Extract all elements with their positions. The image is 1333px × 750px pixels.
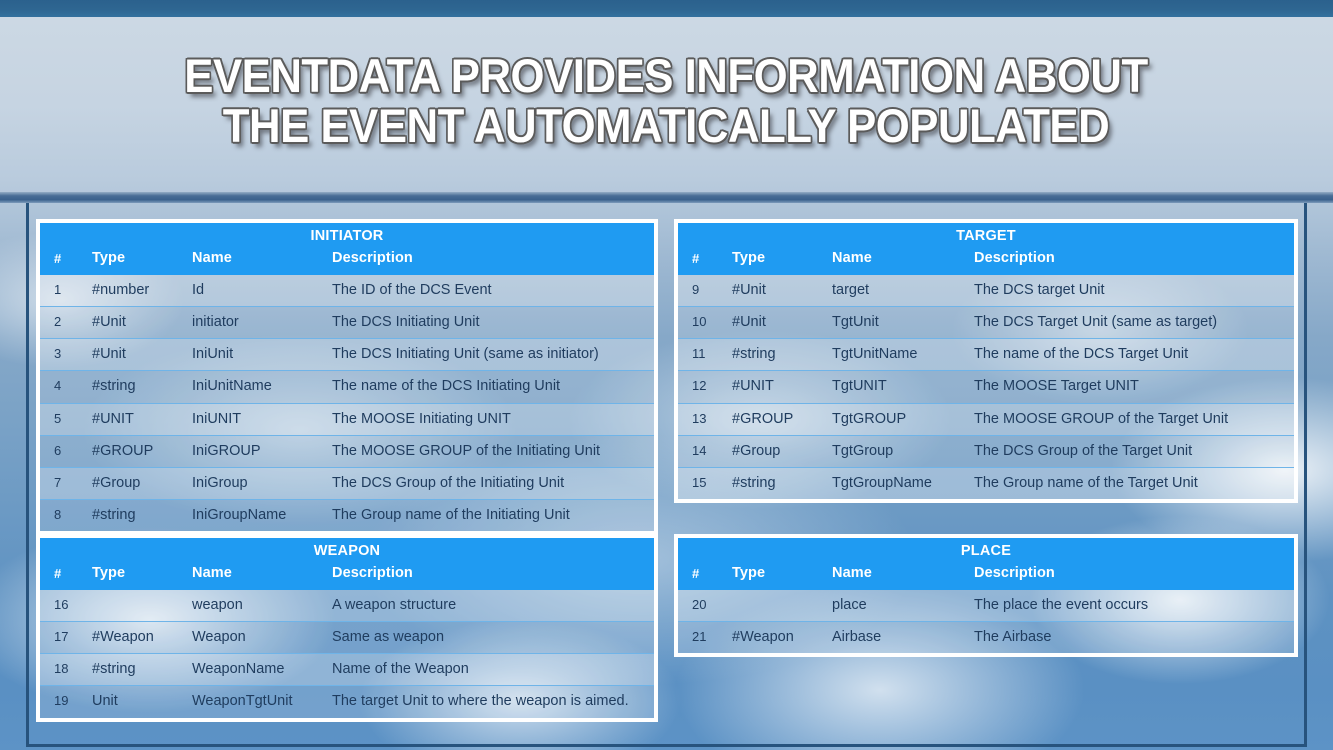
cell-name: WeaponTgtUnit (192, 686, 332, 718)
cell-type: #number (92, 275, 192, 307)
cell-type (92, 590, 192, 622)
cell-type: #Unit (92, 307, 192, 339)
cell-name: weapon (192, 590, 332, 622)
cell-desc: The target Unit to where the weapon is a… (332, 686, 654, 718)
table-row: 13 #GROUP TgtGROUP The MOOSE GROUP of th… (678, 403, 1294, 435)
table-row: 16 weapon A weapon structure (40, 590, 654, 622)
cell-num: 3 (40, 339, 92, 371)
table-initiator: INITIATOR # Type Name Description 1 #num… (36, 219, 658, 535)
cell-desc: The name of the DCS Target Unit (974, 339, 1294, 371)
cell-type: #Group (732, 435, 832, 467)
cell-name: TgtGROUP (832, 403, 974, 435)
cell-num: 13 (678, 403, 732, 435)
cell-name: TgtUNIT (832, 371, 974, 403)
cell-type: #string (92, 371, 192, 403)
cell-name: TgtUnit (832, 307, 974, 339)
cell-name: TgtGroup (832, 435, 974, 467)
cell-type: Unit (92, 686, 192, 718)
cell-type: #string (92, 499, 192, 531)
cell-type: #GROUP (732, 403, 832, 435)
frame-border-right (1304, 203, 1307, 747)
cell-num: 20 (678, 590, 732, 622)
table-row: 6 #GROUP IniGROUP The MOOSE GROUP of the… (40, 435, 654, 467)
title-area: EVENTDATA PROVIDES INFORMATION ABOUT THE… (0, 17, 1333, 192)
column-header-type: Type (732, 562, 832, 590)
cell-num: 12 (678, 371, 732, 403)
cell-type: #GROUP (92, 435, 192, 467)
table-header-row: # Type Name Description (678, 247, 1294, 275)
cell-name: IniUNIT (192, 403, 332, 435)
cell-desc: A weapon structure (332, 590, 654, 622)
cell-num: 9 (678, 275, 732, 307)
cell-desc: The place the event occurs (974, 590, 1294, 622)
cell-desc: The Group name of the Initiating Unit (332, 499, 654, 531)
cell-desc: The DCS target Unit (974, 275, 1294, 307)
cell-desc: The DCS Group of the Initiating Unit (332, 467, 654, 499)
column-header-num: # (40, 562, 92, 590)
cell-num: 8 (40, 499, 92, 531)
column-header-num: # (678, 247, 732, 275)
table-header-row: # Type Name Description (40, 247, 654, 275)
table-row: 12 #UNIT TgtUNIT The MOOSE Target UNIT (678, 371, 1294, 403)
frame-border-left (26, 203, 29, 747)
table-row: 17 #Weapon Weapon Same as weapon (40, 622, 654, 654)
column-header-num: # (40, 247, 92, 275)
table-row: 5 #UNIT IniUNIT The MOOSE Initiating UNI… (40, 403, 654, 435)
table-row: 1 #number Id The ID of the DCS Event (40, 275, 654, 307)
cell-num: 2 (40, 307, 92, 339)
cell-name: TgtGroupName (832, 467, 974, 499)
data-table-initiator: # Type Name Description 1 #number Id The… (40, 247, 654, 531)
table-row: 21 #Weapon Airbase The Airbase (678, 622, 1294, 654)
column-header-desc: Description (974, 247, 1294, 275)
cell-name: IniUnit (192, 339, 332, 371)
table-caption-place: PLACE (678, 538, 1294, 562)
cell-type: #string (92, 654, 192, 686)
table-header-row: # Type Name Description (40, 562, 654, 590)
cell-type: #UNIT (92, 403, 192, 435)
cell-num: 7 (40, 467, 92, 499)
cell-num: 18 (40, 654, 92, 686)
cell-type (732, 590, 832, 622)
cell-desc: The MOOSE Initiating UNIT (332, 403, 654, 435)
cell-type: #string (732, 467, 832, 499)
cell-type: #UNIT (732, 371, 832, 403)
column-header-type: Type (92, 247, 192, 275)
cell-desc: Name of the Weapon (332, 654, 654, 686)
cell-num: 17 (40, 622, 92, 654)
column-header-type: Type (732, 247, 832, 275)
table-row: 9 #Unit target The DCS target Unit (678, 275, 1294, 307)
column-header-num: # (678, 562, 732, 590)
table-row: 11 #string TgtUnitName The name of the D… (678, 339, 1294, 371)
cell-type: #Unit (732, 275, 832, 307)
table-row: 14 #Group TgtGroup The DCS Group of the … (678, 435, 1294, 467)
table-row: 10 #Unit TgtUnit The DCS Target Unit (sa… (678, 307, 1294, 339)
cell-num: 21 (678, 622, 732, 654)
cell-type: #string (732, 339, 832, 371)
column-header-name: Name (192, 247, 332, 275)
cell-desc: Same as weapon (332, 622, 654, 654)
table-row: 19 Unit WeaponTgtUnit The target Unit to… (40, 686, 654, 718)
column-header-name: Name (192, 562, 332, 590)
cell-desc: The MOOSE GROUP of the Target Unit (974, 403, 1294, 435)
cell-type: #Weapon (732, 622, 832, 654)
cell-desc: The ID of the DCS Event (332, 275, 654, 307)
table-row: 7 #Group IniGroup The DCS Group of the I… (40, 467, 654, 499)
cell-desc: The MOOSE Target UNIT (974, 371, 1294, 403)
column-header-desc: Description (332, 562, 654, 590)
cell-name: IniGroup (192, 467, 332, 499)
cell-num: 19 (40, 686, 92, 718)
table-row: 18 #string WeaponName Name of the Weapon (40, 654, 654, 686)
cell-type: #Unit (732, 307, 832, 339)
cell-desc: The DCS Target Unit (same as target) (974, 307, 1294, 339)
cell-name: TgtUnitName (832, 339, 974, 371)
cell-num: 14 (678, 435, 732, 467)
cell-name: IniUnitName (192, 371, 332, 403)
cell-name: IniGROUP (192, 435, 332, 467)
table-row: 20 place The place the event occurs (678, 590, 1294, 622)
cell-num: 15 (678, 467, 732, 499)
cell-num: 6 (40, 435, 92, 467)
column-header-desc: Description (974, 562, 1294, 590)
cell-name: Id (192, 275, 332, 307)
cell-name: IniGroupName (192, 499, 332, 531)
cell-type: #Unit (92, 339, 192, 371)
data-table-weapon: # Type Name Description 16 weapon A weap… (40, 562, 654, 718)
cell-name: Weapon (192, 622, 332, 654)
table-row: 3 #Unit IniUnit The DCS Initiating Unit … (40, 339, 654, 371)
data-table-target: # Type Name Description 9 #Unit target T… (678, 247, 1294, 499)
table-row: 15 #string TgtGroupName The Group name o… (678, 467, 1294, 499)
cell-desc: The Group name of the Target Unit (974, 467, 1294, 499)
cell-type: #Group (92, 467, 192, 499)
table-caption-weapon: WEAPON (40, 538, 654, 562)
table-target: TARGET # Type Name Description 9 #Unit t… (674, 219, 1298, 503)
cell-num: 11 (678, 339, 732, 371)
cell-desc: The Airbase (974, 622, 1294, 654)
page-title: EVENTDATA PROVIDES INFORMATION ABOUT THE… (185, 51, 1148, 151)
table-row: 8 #string IniGroupName The Group name of… (40, 499, 654, 531)
cell-name: Airbase (832, 622, 974, 654)
top-accent-band (0, 0, 1333, 17)
table-caption-initiator: INITIATOR (40, 223, 654, 247)
cell-name: initiator (192, 307, 332, 339)
slide-canvas: EVENTDATA PROVIDES INFORMATION ABOUT THE… (0, 0, 1333, 750)
table-row: 2 #Unit initiator The DCS Initiating Uni… (40, 307, 654, 339)
column-header-name: Name (832, 562, 974, 590)
cell-name: place (832, 590, 974, 622)
data-table-place: # Type Name Description 20 place The pla… (678, 562, 1294, 653)
cell-name: WeaponName (192, 654, 332, 686)
table-weapon: WEAPON # Type Name Description 16 weapon… (36, 534, 658, 722)
table-place: PLACE # Type Name Description 20 place T… (674, 534, 1298, 657)
cell-desc: The MOOSE GROUP of the Initiating Unit (332, 435, 654, 467)
column-header-type: Type (92, 562, 192, 590)
table-header-row: # Type Name Description (678, 562, 1294, 590)
frame-border-bottom (26, 744, 1307, 747)
cell-desc: The name of the DCS Initiating Unit (332, 371, 654, 403)
cell-num: 1 (40, 275, 92, 307)
table-caption-target: TARGET (678, 223, 1294, 247)
cell-num: 10 (678, 307, 732, 339)
cell-desc: The DCS Initiating Unit (332, 307, 654, 339)
column-header-name: Name (832, 247, 974, 275)
cell-type: #Weapon (92, 622, 192, 654)
cell-num: 16 (40, 590, 92, 622)
cell-num: 5 (40, 403, 92, 435)
cell-desc: The DCS Group of the Target Unit (974, 435, 1294, 467)
column-header-desc: Description (332, 247, 654, 275)
cell-name: target (832, 275, 974, 307)
cell-num: 4 (40, 371, 92, 403)
cell-desc: The DCS Initiating Unit (same as initiat… (332, 339, 654, 371)
title-divider (0, 192, 1333, 203)
table-row: 4 #string IniUnitName The name of the DC… (40, 371, 654, 403)
